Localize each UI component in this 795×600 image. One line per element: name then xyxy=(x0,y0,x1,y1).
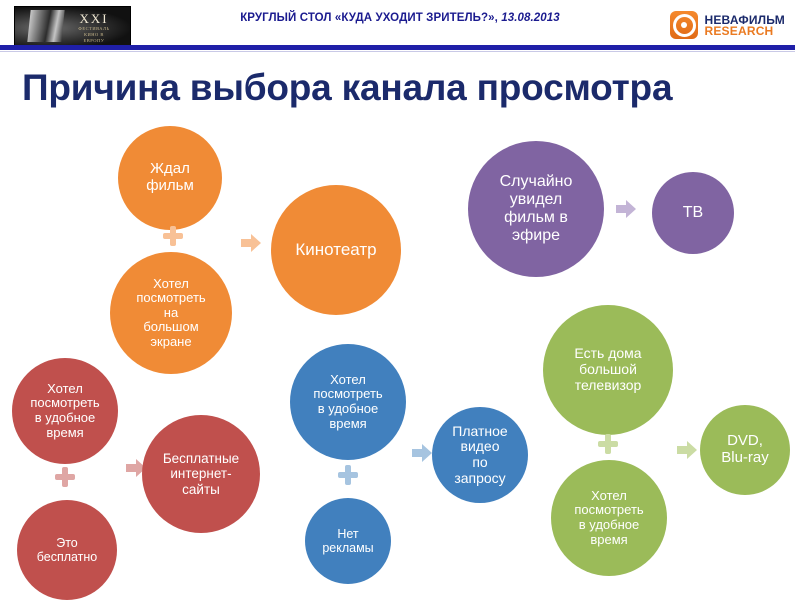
bubble-result-free-internet[interactable]: Бесплатныеинтернет-сайты xyxy=(142,415,260,533)
festival-logo-text: XXI ФЕСТИВАЛЬКИНО ВЕВРОПУ xyxy=(66,12,122,44)
arrow-right-icon-vod xyxy=(412,444,432,462)
arrow-right-icon-tv xyxy=(616,200,636,218)
bubble-reason-convenient-time-disc[interactable]: Хотелпосмотретьв удобноевремя xyxy=(551,460,667,576)
festival-logo-name: XXI xyxy=(79,11,108,26)
bubble-result-tv[interactable]: ТВ xyxy=(652,172,734,254)
plus-icon-vod xyxy=(338,465,358,485)
bubble-label: Нетрекламы xyxy=(322,527,373,555)
nevafilm-mark-icon xyxy=(670,11,698,39)
bubble-label: DVD,Blu-ray xyxy=(721,433,769,467)
bubble-label: Хотелпосмотретьв удобноевремя xyxy=(313,373,382,431)
festival-logo-sub: ФЕСТИВАЛЬКИНО ВЕВРОПУ xyxy=(66,26,122,44)
header-divider xyxy=(0,45,795,50)
bubble-label: Хотелпосмотретьв удобноевремя xyxy=(574,489,643,547)
plus-icon-disc xyxy=(598,434,618,454)
bubble-reason-big-screen[interactable]: Хотелпосмотретьнабольшомэкране xyxy=(110,252,232,374)
bubble-label: Кинотеатр xyxy=(295,240,376,259)
bubble-reason-convenient-time-vod[interactable]: Хотелпосмотретьв удобноевремя xyxy=(290,344,406,460)
bubble-reason-saw-on-air[interactable]: Случайноувиделфильм вэфире xyxy=(468,141,604,277)
slide-canvas: XXI ФЕСТИВАЛЬКИНО ВЕВРОПУ КРУГЛЫЙ СТОЛ «… xyxy=(0,0,795,600)
bubble-label: Платноевидеопозапросу xyxy=(452,424,507,487)
bubble-label: Бесплатныеинтернет-сайты xyxy=(163,451,239,496)
bubble-label: Хотелпосмотретьв удобноевремя xyxy=(30,382,99,440)
bubble-label: Есть домабольшойтелевизор xyxy=(574,346,641,393)
header-divider-thin xyxy=(0,51,795,52)
arrow-right-icon-disc xyxy=(677,441,697,459)
nevafilm-word-2: RESEARCH xyxy=(704,25,785,37)
bubble-reason-convenient-time-internet[interactable]: Хотелпосмотретьв удобноевремя xyxy=(12,358,118,464)
film-strip-icon xyxy=(27,10,64,42)
bubble-label: Случайноувиделфильм вэфире xyxy=(500,173,573,245)
bubble-reason-waited-for-film[interactable]: Ждалфильм xyxy=(118,126,222,230)
bubble-reason-its-free[interactable]: Этобесплатно xyxy=(17,500,117,600)
festival-logo: XXI ФЕСТИВАЛЬКИНО ВЕВРОПУ xyxy=(14,6,131,46)
plus-icon-internet xyxy=(55,467,75,487)
bubble-result-dvd-bluray[interactable]: DVD,Blu-ray xyxy=(700,405,790,495)
nevafilm-research-logo: НЕВАФИЛЬМ RESEARCH xyxy=(670,8,785,42)
event-title: КРУГЛЫЙ СТОЛ «КУДА УХОДИТ ЗРИТЕЛЬ?», xyxy=(240,12,498,24)
nevafilm-wordmark: НЕВАФИЛЬМ RESEARCH xyxy=(704,14,785,37)
bubble-label: Ждалфильм xyxy=(146,161,194,195)
bubble-label: Этобесплатно xyxy=(37,536,98,564)
arrow-right-icon-cinema xyxy=(241,234,261,252)
bubble-reason-no-ads[interactable]: Нетрекламы xyxy=(305,498,391,584)
page-title: Причина выбора канала просмотра xyxy=(22,67,672,109)
bubble-result-paid-vod[interactable]: Платноевидеопозапросу xyxy=(432,407,528,503)
bubble-label: ТВ xyxy=(683,204,703,222)
bubble-label: Хотелпосмотретьнабольшомэкране xyxy=(136,277,205,350)
bubble-reason-big-tv-at-home[interactable]: Есть домабольшойтелевизор xyxy=(543,305,673,435)
event-header: КРУГЛЫЙ СТОЛ «КУДА УХОДИТ ЗРИТЕЛЬ?», 13.… xyxy=(200,12,600,24)
plus-icon-cinema xyxy=(163,226,183,246)
bubble-result-cinema[interactable]: Кинотеатр xyxy=(271,185,401,315)
event-date: 13.08.2013 xyxy=(498,12,560,24)
